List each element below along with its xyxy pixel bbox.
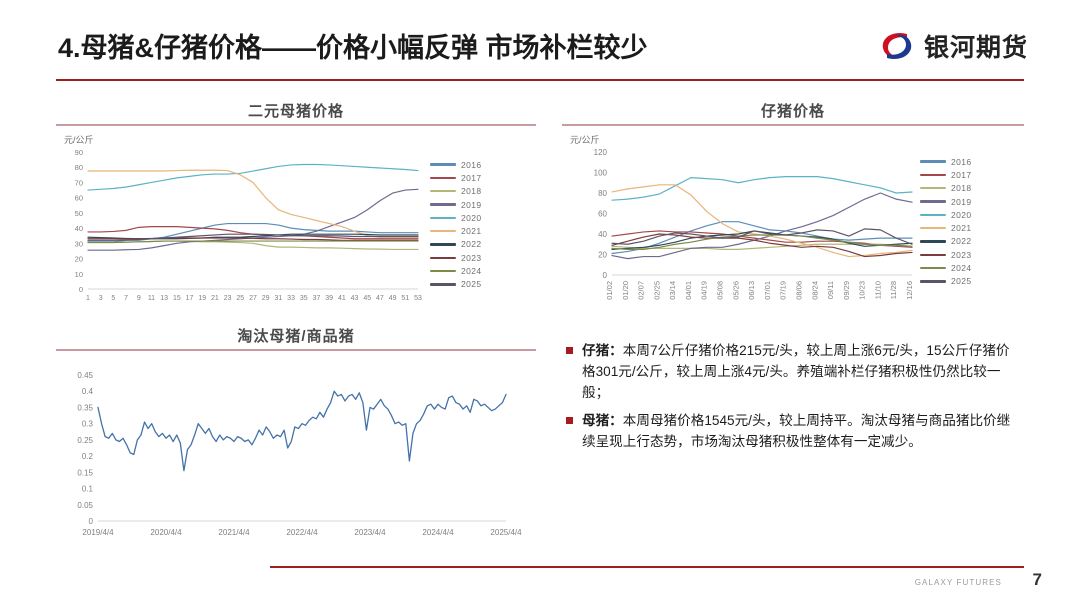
svg-text:70: 70: [75, 178, 83, 187]
brand-name: 银河期货: [924, 28, 1028, 64]
svg-text:08/24: 08/24: [810, 281, 819, 300]
chart-legend-piglet-price: 2016201720182019202020212022202320242025: [920, 155, 972, 288]
chart-title-underline: [56, 124, 536, 126]
legend-swatch-icon: [920, 214, 946, 216]
legend-label: 2018: [461, 186, 482, 196]
series-line-2024: [88, 241, 418, 243]
svg-text:02/25: 02/25: [652, 281, 661, 300]
legend-item-2023: 2023: [920, 248, 972, 261]
y-axis-unit-sow: 元/公斤: [64, 133, 536, 146]
legend-item-2020: 2020: [920, 208, 972, 221]
svg-text:10: 10: [75, 269, 83, 278]
svg-text:51: 51: [401, 295, 409, 302]
legend-swatch-icon: [920, 240, 946, 242]
legend-label: 2017: [951, 170, 972, 180]
legend-swatch-icon: [920, 160, 946, 162]
note-lead: 母猪：: [582, 413, 623, 428]
footer-brand: GALAXY FUTURES: [915, 578, 1002, 587]
bullet-square-icon: [566, 347, 573, 354]
legend-swatch-icon: [430, 203, 456, 205]
legend-label: 2016: [461, 160, 482, 170]
legend-item-2016: 2016: [920, 155, 972, 168]
note-lead: 仔猪：: [582, 343, 623, 358]
legend-label: 2018: [951, 183, 972, 193]
svg-text:30: 30: [75, 239, 83, 248]
svg-text:2019/4/4: 2019/4/4: [82, 528, 114, 537]
svg-text:40: 40: [598, 230, 607, 239]
svg-text:04/01: 04/01: [684, 281, 693, 300]
svg-text:29: 29: [262, 295, 270, 302]
chart-plot-culled-sow-ratio: 00.050.10.150.20.250.30.350.40.452019/4/…: [56, 367, 536, 549]
legend-swatch-icon: [430, 257, 456, 259]
legend-item-2019: 2019: [920, 195, 972, 208]
legend-item-2025: 2025: [430, 278, 482, 291]
svg-text:2024/4/4: 2024/4/4: [422, 528, 454, 537]
svg-text:05/26: 05/26: [731, 281, 740, 300]
svg-text:11/10: 11/10: [873, 281, 882, 299]
footer-divider: [270, 566, 1024, 568]
legend-swatch-icon: [920, 187, 946, 189]
page-title: 4.母猪&仔猪价格——价格小幅反弹 市场补栏较少: [58, 26, 648, 65]
svg-text:13: 13: [160, 295, 168, 302]
series-line-淘汰母猪/商品猪: [98, 391, 506, 470]
legend-label: 2017: [461, 173, 482, 183]
svg-text:0.05: 0.05: [77, 500, 93, 509]
chart-panel-culled-sow-ratio: 淘汰母猪/商品猪 00.050.10.150.20.250.30.350.40.…: [56, 325, 536, 549]
svg-text:07/01: 07/01: [763, 281, 772, 300]
legend-label: 2022: [461, 239, 482, 249]
legend-item-2020: 2020: [430, 211, 482, 224]
legend-label: 2019: [951, 197, 972, 207]
series-line-2022: [612, 230, 912, 248]
svg-text:3: 3: [99, 295, 103, 302]
svg-text:60: 60: [598, 209, 607, 218]
svg-text:2025/4/4: 2025/4/4: [490, 528, 522, 537]
note-detail: 本周母猪价格1545元/头，较上周持平。淘汰母猪与商品猪比价继续呈现上行态势，市…: [582, 413, 1010, 449]
svg-text:0.15: 0.15: [77, 468, 93, 477]
svg-text:40: 40: [75, 224, 83, 233]
svg-text:03/14: 03/14: [668, 281, 677, 300]
bullet-square-icon: [566, 417, 573, 424]
commentary-list: 仔猪：本周7公斤仔猪价格215元/头，较上周上涨6元/头，15公斤仔猪价格301…: [566, 340, 1018, 459]
legend-item-2018: 2018: [430, 185, 482, 198]
galaxy-swirl-logo-icon: [877, 26, 917, 66]
svg-text:25: 25: [236, 295, 244, 302]
note-text: 仔猪：本周7公斤仔猪价格215元/头，较上周上涨6元/头，15公斤仔猪价格301…: [582, 340, 1018, 403]
chart-title-sow-price: 二元母猪价格: [56, 100, 536, 121]
chart-title-underline: [56, 349, 536, 351]
list-item: 母猪：本周母猪价格1545元/头，较上周持平。淘汰母猪与商品猪比价继续呈现上行态…: [566, 410, 1018, 452]
legend-label: 2023: [951, 250, 972, 260]
legend-item-2018: 2018: [920, 182, 972, 195]
chart-panel-sow-price: 二元母猪价格 元/公斤 0102030405060708090135791113…: [56, 100, 536, 311]
legend-item-2022: 2022: [920, 235, 972, 248]
series-line-2020: [612, 176, 912, 200]
svg-text:0: 0: [89, 517, 94, 526]
chart-title-culled-sow-ratio: 淘汰母猪/商品猪: [56, 325, 536, 346]
svg-text:06/13: 06/13: [747, 281, 756, 300]
svg-text:41: 41: [338, 295, 346, 302]
svg-text:07/19: 07/19: [779, 281, 788, 300]
legend-swatch-icon: [430, 230, 456, 232]
svg-text:60: 60: [75, 193, 83, 202]
legend-item-2017: 2017: [920, 168, 972, 181]
legend-item-2025: 2025: [920, 275, 972, 288]
legend-item-2021: 2021: [920, 221, 972, 234]
y-axis-unit-piglet: 元/公斤: [570, 133, 1024, 146]
svg-text:15: 15: [173, 295, 181, 302]
svg-text:2023/4/4: 2023/4/4: [354, 528, 386, 537]
legend-swatch-icon: [430, 190, 456, 192]
svg-text:1: 1: [86, 295, 90, 302]
header-divider: [56, 79, 1024, 81]
legend-label: 2016: [951, 157, 972, 167]
note-text: 母猪：本周母猪价格1545元/头，较上周持平。淘汰母猪与商品猪比价继续呈现上行态…: [582, 410, 1018, 452]
legend-item-2017: 2017: [430, 171, 482, 184]
legend-label: 2020: [951, 210, 972, 220]
legend-item-2024: 2024: [920, 261, 972, 274]
legend-item-2023: 2023: [430, 251, 482, 264]
legend-item-2016: 2016: [430, 158, 482, 171]
legend-label: 2023: [461, 253, 482, 263]
svg-text:2021/4/4: 2021/4/4: [218, 528, 250, 537]
svg-text:05/08: 05/08: [716, 281, 725, 300]
legend-item-2019: 2019: [430, 198, 482, 211]
legend-item-2022: 2022: [430, 238, 482, 251]
svg-text:08/06: 08/06: [794, 281, 803, 300]
legend-label: 2025: [951, 276, 972, 286]
svg-text:2020/4/4: 2020/4/4: [150, 528, 182, 537]
legend-label: 2019: [461, 200, 482, 210]
svg-text:80: 80: [75, 163, 83, 172]
legend-swatch-icon: [920, 227, 946, 229]
svg-text:50: 50: [75, 208, 83, 217]
series-line-2020: [88, 164, 418, 190]
legend-item-2021: 2021: [430, 224, 482, 237]
legend-item-2024: 2024: [430, 264, 482, 277]
svg-text:21: 21: [211, 295, 219, 302]
legend-swatch-icon: [430, 163, 456, 165]
legend-label: 2022: [951, 236, 972, 246]
svg-text:90: 90: [75, 148, 83, 157]
svg-text:37: 37: [313, 295, 321, 302]
legend-label: 2024: [951, 263, 972, 273]
svg-text:0: 0: [603, 271, 608, 280]
svg-text:7: 7: [124, 295, 128, 302]
svg-text:19: 19: [198, 295, 206, 302]
chart-panel-piglet-price: 仔猪价格 元/公斤 02040608010012001/0201/2002/07…: [562, 100, 1024, 321]
svg-text:0.25: 0.25: [77, 435, 93, 444]
svg-text:09/29: 09/29: [842, 281, 851, 300]
svg-text:17: 17: [186, 295, 194, 302]
legend-swatch-icon: [920, 254, 946, 256]
note-detail: 本周7公斤仔猪价格215元/头，较上周上涨6元/头，15公斤仔猪价格301元/公…: [582, 343, 1010, 400]
list-item: 仔猪：本周7公斤仔猪价格215元/头，较上周上涨6元/头，15公斤仔猪价格301…: [566, 340, 1018, 403]
legend-swatch-icon: [920, 174, 946, 176]
svg-text:0.1: 0.1: [82, 484, 94, 493]
svg-text:2022/4/4: 2022/4/4: [286, 528, 318, 537]
chart-title-piglet-price: 仔猪价格: [562, 100, 1024, 121]
legend-label: 2021: [461, 226, 482, 236]
legend-label: 2025: [461, 279, 482, 289]
svg-text:0.35: 0.35: [77, 403, 93, 412]
legend-swatch-icon: [920, 267, 946, 269]
svg-text:01/20: 01/20: [621, 281, 630, 300]
legend-label: 2021: [951, 223, 972, 233]
legend-swatch-icon: [430, 283, 456, 285]
svg-text:0.2: 0.2: [82, 452, 94, 461]
svg-text:45: 45: [363, 295, 371, 302]
svg-text:02/07: 02/07: [637, 281, 646, 300]
legend-swatch-icon: [920, 200, 946, 202]
svg-text:39: 39: [325, 295, 333, 302]
slide-header: 4.母猪&仔猪价格——价格小幅反弹 市场补栏较少 银河期货: [0, 0, 1080, 88]
svg-text:23: 23: [224, 295, 232, 302]
legend-label: 2024: [461, 266, 482, 276]
svg-text:33: 33: [287, 295, 295, 302]
svg-text:11: 11: [148, 295, 155, 302]
legend-swatch-icon: [430, 177, 456, 179]
svg-text:120: 120: [594, 148, 608, 157]
svg-text:9: 9: [137, 295, 141, 302]
svg-text:0: 0: [79, 285, 83, 294]
legend-swatch-icon: [430, 243, 456, 245]
svg-text:27: 27: [249, 295, 257, 302]
svg-text:31: 31: [274, 295, 282, 302]
svg-text:5: 5: [111, 295, 115, 302]
legend-label: 2020: [461, 213, 482, 223]
svg-text:20: 20: [75, 254, 83, 263]
chart-title-underline: [562, 124, 1024, 126]
legend-swatch-icon: [430, 270, 456, 272]
page-number: 7: [1033, 570, 1042, 590]
legend-swatch-icon: [920, 280, 946, 282]
svg-text:20: 20: [598, 250, 607, 259]
svg-text:01/02: 01/02: [605, 281, 614, 300]
svg-text:43: 43: [351, 295, 359, 302]
legend-swatch-icon: [430, 217, 456, 219]
svg-text:100: 100: [594, 168, 608, 177]
svg-text:35: 35: [300, 295, 308, 302]
svg-text:12/16: 12/16: [905, 281, 914, 300]
svg-text:09/11: 09/11: [826, 281, 835, 299]
chart-legend-sow-price: 2016201720182019202020212022202320242025: [430, 158, 482, 291]
svg-text:49: 49: [389, 295, 397, 302]
svg-text:0.3: 0.3: [82, 419, 94, 428]
svg-text:0.4: 0.4: [82, 387, 94, 396]
svg-text:0.45: 0.45: [77, 371, 93, 380]
svg-text:80: 80: [598, 189, 607, 198]
brand-logo: 银河期货: [877, 26, 1028, 66]
svg-text:10/23: 10/23: [858, 281, 867, 300]
svg-text:47: 47: [376, 295, 384, 302]
svg-text:04/19: 04/19: [700, 281, 709, 300]
svg-text:11/28: 11/28: [889, 281, 898, 299]
svg-text:53: 53: [414, 295, 422, 302]
